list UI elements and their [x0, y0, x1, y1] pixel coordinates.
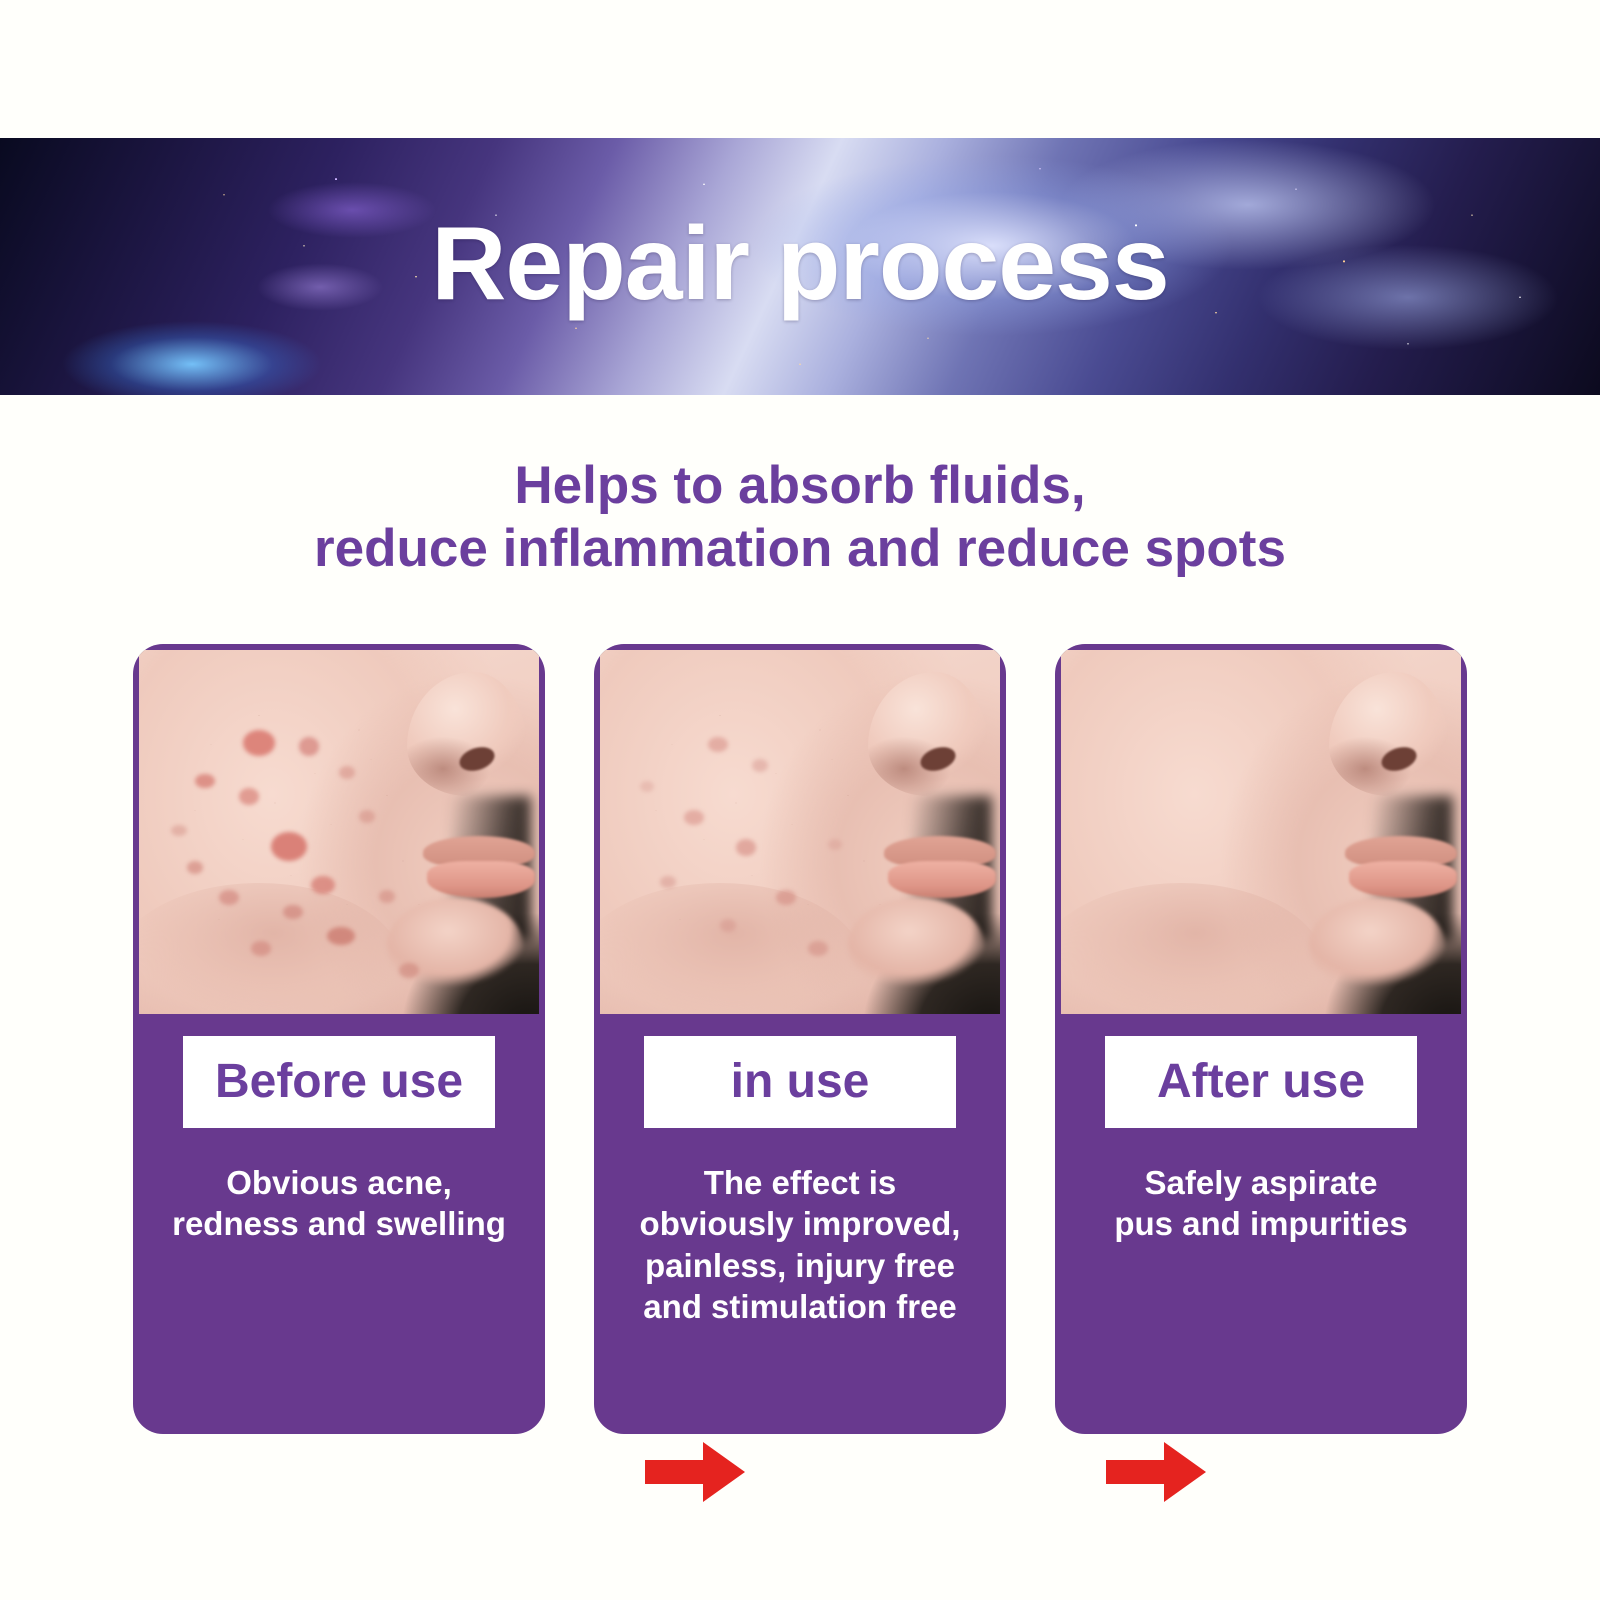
- card-desc-line: Safely aspirate: [1063, 1162, 1459, 1203]
- card-description-in-use: The effect is obviously improved, painle…: [602, 1162, 998, 1327]
- card-description-before-use: Obvious acne, redness and swelling: [141, 1162, 537, 1245]
- face-image-after-use: [1061, 650, 1461, 1014]
- card-label-band-in-use: in use: [644, 1036, 956, 1128]
- subtitle-line-2: reduce inflammation and reduce spots: [0, 518, 1600, 581]
- process-card-in-use: in use The effect is obviously improved,…: [594, 644, 1006, 1434]
- card-label-in-use: in use: [731, 1058, 870, 1106]
- card-description-after-use: Safely aspirate pus and impurities: [1063, 1162, 1459, 1245]
- card-desc-line: obviously improved,: [602, 1203, 998, 1244]
- face-image-before-use: [139, 650, 539, 1014]
- hero-banner: Repair process: [0, 138, 1600, 395]
- process-card-before-use: Before use Obvious acne, redness and swe…: [133, 644, 545, 1434]
- acne-spots-clear: [1061, 650, 1461, 1014]
- arrow-right-icon: [645, 1440, 745, 1504]
- acne-spots-severe: [139, 650, 539, 1014]
- card-desc-line: pus and impurities: [1063, 1203, 1459, 1244]
- card-body-before-use: Before use Obvious acne, redness and swe…: [133, 1014, 545, 1434]
- card-photo-in-use: [600, 650, 1000, 1014]
- page-title: Repair process: [0, 138, 1600, 395]
- face-image-in-use: [600, 650, 1000, 1014]
- card-label-band-before-use: Before use: [183, 1036, 495, 1128]
- card-photo-before-use: [139, 650, 539, 1014]
- card-body-in-use: in use The effect is obviously improved,…: [594, 1014, 1006, 1434]
- subtitle: Helps to absorb fluids, reduce inflammat…: [0, 455, 1600, 580]
- card-label-after-use: After use: [1157, 1058, 1365, 1106]
- card-desc-line: The effect is: [602, 1162, 998, 1203]
- card-label-before-use: Before use: [215, 1058, 463, 1106]
- subtitle-line-1: Helps to absorb fluids,: [0, 455, 1600, 518]
- card-desc-line: and stimulation free: [602, 1286, 998, 1327]
- card-label-band-after-use: After use: [1105, 1036, 1417, 1128]
- acne-spots-moderate: [600, 650, 1000, 1014]
- card-photo-after-use: [1061, 650, 1461, 1014]
- card-desc-line: Obvious acne,: [141, 1162, 537, 1203]
- card-desc-line: painless, injury free: [602, 1245, 998, 1286]
- arrow-right-icon: [1106, 1440, 1206, 1504]
- process-card-row: Before use Obvious acne, redness and swe…: [133, 644, 1467, 1434]
- card-desc-line: redness and swelling: [141, 1203, 537, 1244]
- process-card-after-use: After use Safely aspirate pus and impuri…: [1055, 644, 1467, 1434]
- card-body-after-use: After use Safely aspirate pus and impuri…: [1055, 1014, 1467, 1434]
